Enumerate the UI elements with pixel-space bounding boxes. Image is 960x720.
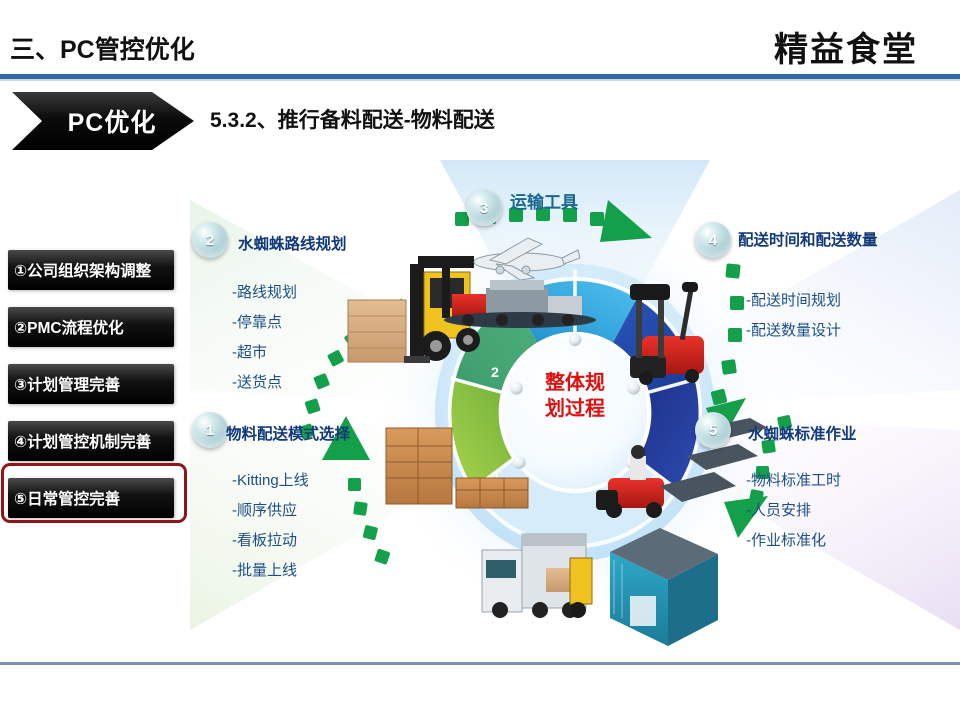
block-1-title: 物料配送模式选择 <box>226 422 350 444</box>
page-title: 三、PC管控优化 <box>10 30 195 66</box>
block-4-bullet-2: -配送数量设计 <box>746 316 841 346</box>
badge-3[interactable]: 3 <box>466 190 502 226</box>
brand-title: 精益食堂 <box>774 22 918 71</box>
sidebar-item-label: ⑤日常管控完善 <box>14 487 120 509</box>
sidebar-item-1[interactable]: ①公司组织架构调整 <box>8 250 174 290</box>
block-1-bullets: -Kitting上线 -顺序供应 -看板拉动 -批量上线 <box>232 466 309 586</box>
block-1-bullet-2: -顺序供应 <box>232 496 309 526</box>
block-3-title: 运输工具 <box>510 188 578 213</box>
badge-1[interactable]: 1 <box>192 412 228 448</box>
pc-optimization-banner: PC优化 <box>12 92 202 154</box>
block-5-bullet-1: -物料标准工时 <box>746 466 841 496</box>
sidebar-item-2[interactable]: ②PMC流程优化 <box>8 307 174 347</box>
header-divider-light <box>0 79 960 81</box>
slide-root: 三、PC管控优化 精益食堂 PC优化 5.3.2、推行备料配送-物料配送 ①公司… <box>0 0 960 720</box>
sidebar-item-5[interactable]: ⑤日常管控完善 <box>8 478 174 518</box>
block-1-bullet-1: -Kitting上线 <box>232 466 309 496</box>
banner-label: PC优化 <box>12 92 194 150</box>
badge-4[interactable]: 4 <box>695 222 731 258</box>
sidebar-item-4[interactable]: ④计划管控机制完善 <box>8 421 174 461</box>
slide-header: 三、PC管控优化 精益食堂 <box>0 0 960 78</box>
delivery-truck-illustration <box>482 534 592 618</box>
block-2-title: 水蜘蛛路线规划 <box>238 232 347 254</box>
badge-2[interactable]: 2 <box>192 222 228 258</box>
block-5-bullets: -物料标准工时 -人员安排 -作业标准化 <box>746 466 841 556</box>
block-2-bullet-2: -停靠点 <box>232 308 297 338</box>
sidebar-item-3[interactable]: ③计划管理完善 <box>8 364 174 404</box>
block-5-title: 水蜘蛛标准作业 <box>748 422 857 444</box>
block-4-bullets: -配送时间规划 -配送数量设计 <box>746 286 841 346</box>
slide-subtitle: 5.3.2、推行备料配送-物料配送 <box>210 104 495 134</box>
process-diagram: 3 2 1 4 5 整体规 划过程 <box>190 160 960 660</box>
wooden-pallets-illustration <box>386 428 528 508</box>
block-2-bullets: -路线规划 -停靠点 -超市 -送货点 <box>232 278 297 398</box>
block-4-title: 配送时间和配送数量 <box>738 228 878 250</box>
badge-5[interactable]: 5 <box>695 412 731 448</box>
block-4-bullet-1: -配送时间规划 <box>746 286 841 316</box>
warehouse-illustration <box>610 528 718 646</box>
block-1-bullet-3: -看板拉动 <box>232 526 309 556</box>
airplane-illustration <box>474 238 580 280</box>
sidebar-item-label: ④计划管控机制完善 <box>14 430 151 452</box>
sidebar-nav: ①公司组织架构调整 ②PMC流程优化 ③计划管理完善 ④计划管控机制完善 ⑤日常… <box>8 250 184 535</box>
sidebar-item-label: ③计划管理完善 <box>14 373 120 395</box>
sidebar-item-label: ②PMC流程优化 <box>14 316 124 338</box>
block-5-bullet-2: -人员安排 <box>746 496 841 526</box>
block-1-bullet-4: -批量上线 <box>232 556 309 586</box>
block-5-bullet-3: -作业标准化 <box>746 526 841 556</box>
block-2-bullet-3: -超市 <box>232 338 297 368</box>
block-2-bullet-1: -路线规划 <box>232 278 297 308</box>
slide-footer: 公众号 · 精益大本营 <box>0 665 960 720</box>
block-2-bullet-4: -送货点 <box>232 368 297 398</box>
pallet-truck-illustration <box>630 282 704 385</box>
sidebar-item-label: ①公司组织架构调整 <box>14 259 151 281</box>
